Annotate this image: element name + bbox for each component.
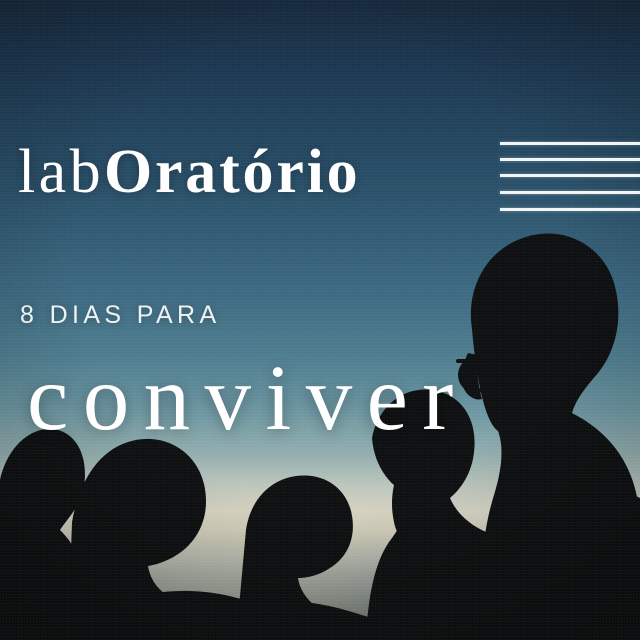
brand-wordmark-light: lab <box>18 138 104 206</box>
rule-line-5 <box>500 208 640 211</box>
brand-wordmark: labOratório <box>18 141 360 203</box>
poster-canvas: labOratório 8 DIAS PARA conviver <box>0 0 640 640</box>
rule-line-4 <box>500 191 640 194</box>
headline-text: conviver <box>27 352 468 445</box>
rule-line-1 <box>500 142 640 145</box>
horizontal-rules-decoration <box>500 142 640 212</box>
kicker-text: 8 DIAS PARA <box>20 303 221 328</box>
rule-line-2 <box>500 158 640 161</box>
brand-wordmark-bold: Oratório <box>104 138 360 206</box>
rule-line-3 <box>500 174 640 177</box>
